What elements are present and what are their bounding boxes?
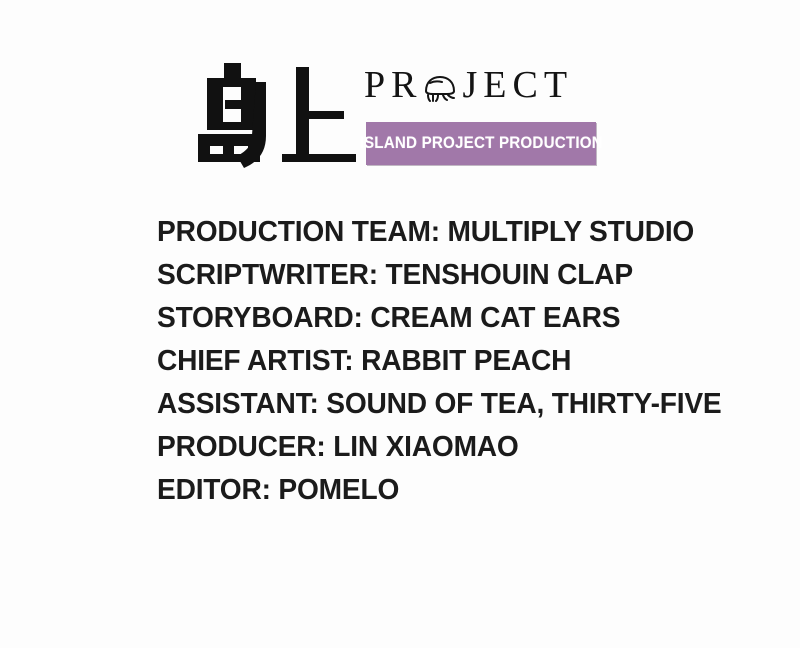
credit-line-chief-artist: CHIEF ARTIST: RABBIT PEACH — [157, 340, 739, 383]
credits-page: PRJECT ISLAND PROJECT PRODUCTION PRODUCT… — [0, 0, 800, 648]
credits-list: PRODUCTION TEAM: MULTIPLY STUDIO SCRIPTW… — [157, 211, 757, 512]
jellyfish-icon — [423, 75, 457, 102]
credit-line-producer: PRODUCER: LIN XIAOMAO — [157, 426, 739, 469]
island-project-production-banner: ISLAND PROJECT PRODUCTION — [366, 122, 596, 165]
cjk-wordmark-island-on — [198, 58, 356, 170]
credit-line-assistant: ASSISTANT: SOUND OF TEA, THIRTY-FIVE — [157, 383, 739, 426]
credit-line-production-team: PRODUCTION TEAM: MULTIPLY STUDIO — [157, 211, 739, 254]
credit-line-scriptwriter: SCRIPTWRITER: TENSHOUIN CLAP — [157, 254, 739, 297]
banner-label: ISLAND PROJECT PRODUCTION — [359, 134, 602, 153]
credit-line-editor: EDITOR: POMELO — [157, 469, 739, 512]
credit-line-storyboard: STORYBOARD: CREAM CAT EARS — [157, 297, 739, 340]
project-wordmark: PRJECT — [364, 60, 602, 110]
studio-logo: PRJECT ISLAND PROJECT PRODUCTION — [198, 58, 602, 170]
project-word-part2: JECT — [462, 60, 573, 110]
project-word-part1: PR — [364, 60, 422, 110]
